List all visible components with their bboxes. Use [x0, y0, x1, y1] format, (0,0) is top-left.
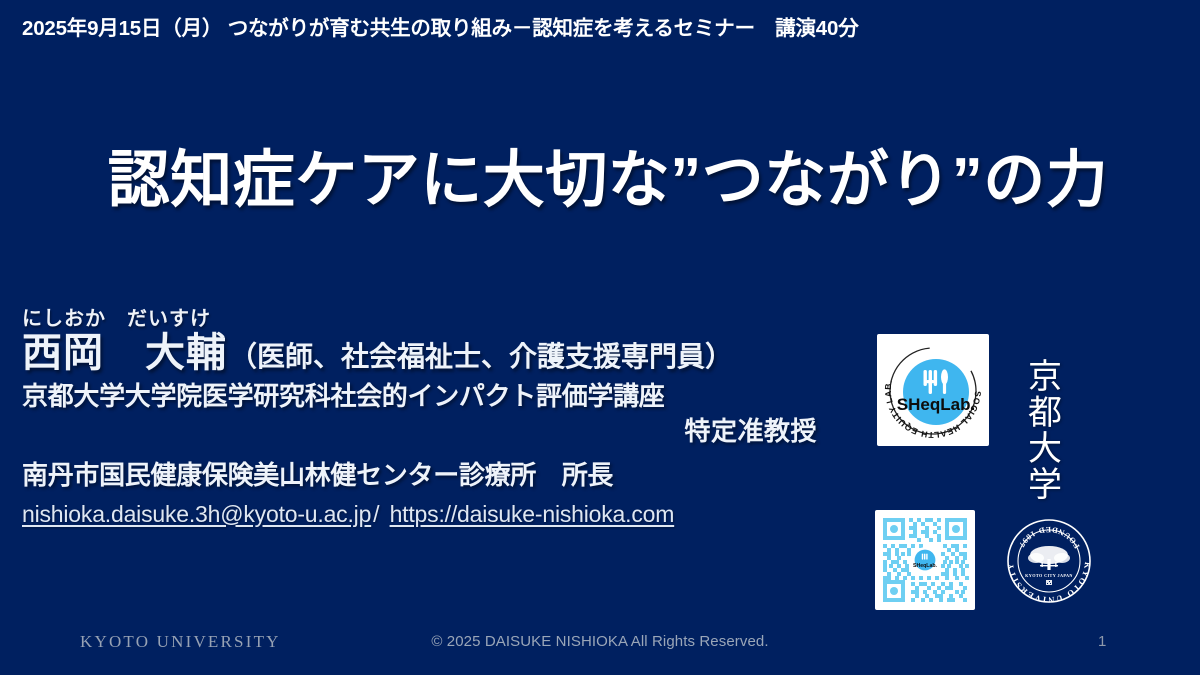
- slide-page-number: 1: [1098, 633, 1106, 650]
- svg-text:KYOTO CITY JAPAN: KYOTO CITY JAPAN: [1025, 573, 1073, 578]
- website-link[interactable]: https://daisuke-nishioka.com: [390, 501, 675, 527]
- title-container: 認知症ケアに大切な”つながり”の力: [0, 148, 1200, 213]
- sheqlab-blue-circle: [903, 359, 969, 425]
- affiliation-primary: 京都大学大学院医学研究科社会的インパクト評価学講座: [22, 380, 862, 413]
- presenter-qualifications: （医師、社会福祉士、介護支援専門員）: [229, 342, 733, 371]
- affiliation-position: 特定准教授: [22, 415, 817, 448]
- kyoto-university-vertical-logo: 京都大学: [1020, 358, 1061, 502]
- svg-text:SHeqLab.: SHeqLab.: [913, 563, 937, 569]
- presenter-name-line: 西岡 大輔 （医師、社会福祉士、介護支援専門員）: [22, 332, 862, 374]
- contact-line: nishioka.daisuke.3h@kyoto-u.ac.jp/ https…: [22, 501, 862, 528]
- sheqlab-logo-card: SOCIAL HEALTH EQUITY LAB. SHeqLab.: [877, 334, 989, 446]
- email-link[interactable]: nishioka.daisuke.3h@kyoto-u.ac.jp: [22, 501, 371, 527]
- kyoto-university-seal-icon: KYOTO UNIVERSITY FOUNDED 1897 KYOTO CITY…: [1003, 515, 1095, 607]
- affiliation-secondary: 南丹市国民健康保険美山林健センター診療所 所長: [22, 459, 862, 492]
- seminar-info-text: 2025年9月15日（月） つながりが育む共生の取り組み－認知症を考えるセミナー…: [22, 11, 859, 41]
- sheqlab-wordmark: SHeqLab.: [897, 395, 975, 414]
- presenter-furigana: にしおか だいすけ: [22, 308, 862, 330]
- camphor-tree-icon: [1028, 546, 1070, 570]
- kyoto-university-seal: KYOTO UNIVERSITY FOUNDED 1897 KYOTO CITY…: [1003, 515, 1095, 607]
- qr-code-icon[interactable]: SHeqLab.: [879, 514, 971, 606]
- contact-separator: /: [371, 501, 383, 527]
- presenter-block: にしおか だいすけ 西岡 大輔 （医師、社会福祉士、介護支援専門員） 京都大学大…: [22, 308, 862, 528]
- qr-code-card[interactable]: SHeqLab.: [875, 510, 975, 610]
- footer-copyright: © 2025 DAISUKE NISHIOKA All Rights Reser…: [0, 633, 1200, 650]
- presenter-name: 西岡 大輔: [22, 332, 227, 374]
- page-title: 認知症ケアに大切な”つながり”の力: [108, 148, 1109, 213]
- presentation-slide: 2025年9月15日（月） つながりが育む共生の取り組み－認知症を考えるセミナー…: [0, 0, 1200, 675]
- sheqlab-logo-icon: SOCIAL HEALTH EQUITY LAB. SHeqLab.: [880, 337, 986, 443]
- slide-header: 2025年9月15日（月） つながりが育む共生の取り組み－認知症を考えるセミナー…: [0, 0, 1200, 52]
